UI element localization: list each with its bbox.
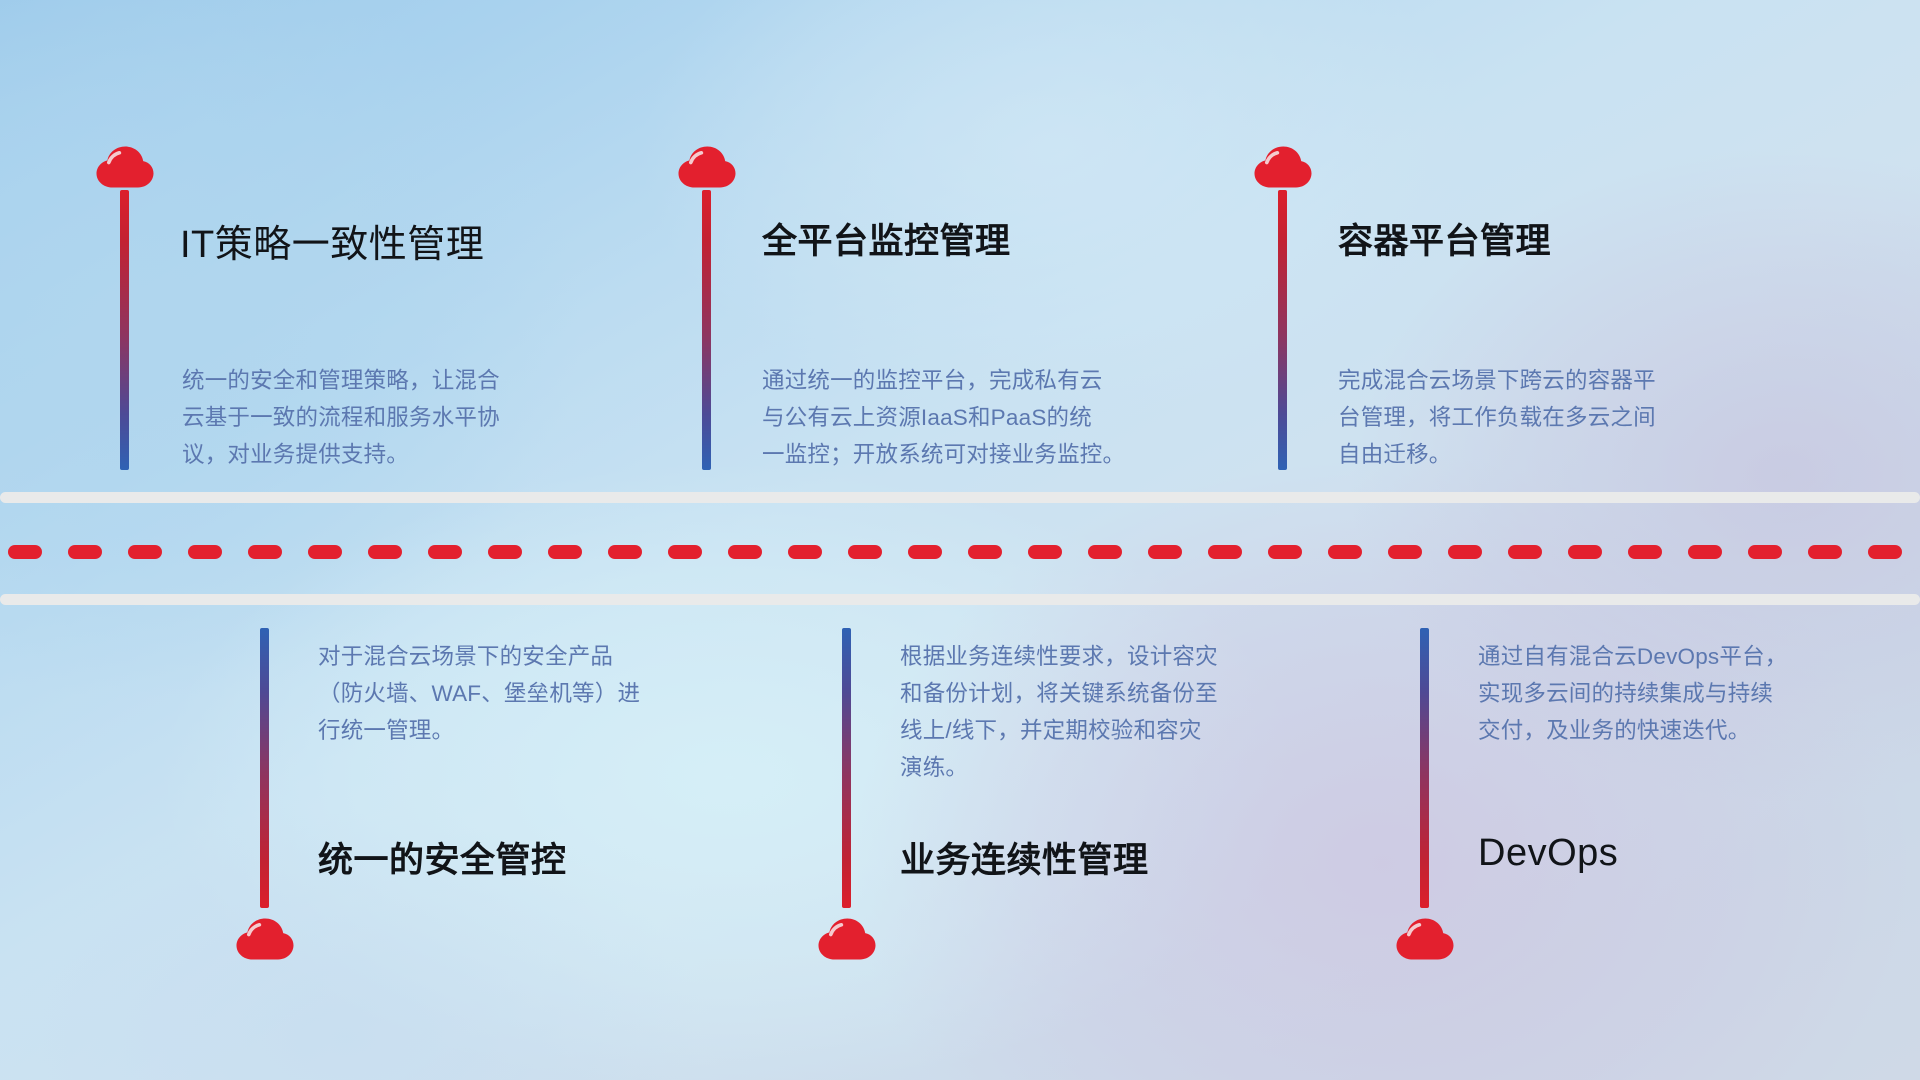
card-body-line: 和备份计划，将关键系统备份至 — [900, 675, 1218, 712]
card-body-line: 通过统一的监控平台，完成私有云 — [762, 362, 1125, 399]
card-title: 全平台监控管理 — [762, 213, 1011, 264]
road-dashed-centerline — [0, 545, 1920, 559]
road-dash-segment — [248, 545, 282, 559]
card-body: 通过统一的监控平台，完成私有云与公有云上资源IaaS和PaaS的统一监控；开放系… — [762, 362, 1125, 473]
card-body-line: 自由迁移。 — [1338, 436, 1656, 473]
marker-stem — [260, 628, 269, 908]
road-dash-segment — [968, 545, 1002, 559]
cloud-icon — [1396, 918, 1454, 960]
road-dash-segment — [1508, 545, 1542, 559]
road-dash-segment — [8, 545, 42, 559]
road-dash-segment — [788, 545, 822, 559]
card-title: IT策略一致性管理 — [180, 213, 484, 268]
road-dash-segment — [1448, 545, 1482, 559]
road-dash-segment — [608, 545, 642, 559]
card-title: DevOps — [1478, 832, 1618, 875]
marker-stem — [120, 190, 129, 470]
road-dash-segment — [1208, 545, 1242, 559]
road-dash-segment — [1688, 545, 1722, 559]
card-body-line: 实现多云间的持续集成与持续 — [1478, 675, 1787, 712]
cloud-icon — [678, 146, 736, 188]
marker-stem — [842, 628, 851, 908]
marker-stem — [1278, 190, 1287, 470]
card-title: 容器平台管理 — [1338, 213, 1551, 264]
card-body-line: 线上/线下，并定期校验和容灾 — [900, 712, 1218, 749]
cloud-icon — [818, 918, 876, 960]
card-body-line: （防火墙、WAF、堡垒机等）进 — [318, 675, 640, 712]
road-dash-segment — [548, 545, 582, 559]
card-title: 统一的安全管控 — [318, 832, 567, 883]
road-dash-segment — [128, 545, 162, 559]
road-dash-segment — [908, 545, 942, 559]
card-body: 根据业务连续性要求，设计容灾和备份计划，将关键系统备份至线上/线下，并定期校验和… — [900, 638, 1218, 786]
cloud-icon — [96, 146, 154, 188]
card-body: 通过自有混合云DevOps平台，实现多云间的持续集成与持续交付，及业务的快速迭代… — [1478, 638, 1787, 749]
marker-stem — [702, 190, 711, 470]
road-dash-segment — [668, 545, 702, 559]
card-body-line: 交付，及业务的快速迭代。 — [1478, 712, 1787, 749]
card-title: 业务连续性管理 — [900, 832, 1149, 883]
road-edge-bottom — [0, 594, 1920, 605]
road-dash-segment — [1088, 545, 1122, 559]
road-dash-segment — [848, 545, 882, 559]
road-dash-segment — [1748, 545, 1782, 559]
card-body-line: 统一的安全和管理策略，让混合 — [182, 362, 500, 399]
road-dash-segment — [428, 545, 462, 559]
road-dash-segment — [1328, 545, 1362, 559]
road-dash-segment — [1268, 545, 1302, 559]
road-dash-segment — [308, 545, 342, 559]
card-body-line: 完成混合云场景下跨云的容器平 — [1338, 362, 1656, 399]
road-dash-segment — [1148, 545, 1182, 559]
marker-stem — [1420, 628, 1429, 908]
card-body-line: 通过自有混合云DevOps平台， — [1478, 638, 1787, 675]
road-dash-segment — [1388, 545, 1422, 559]
card-body-line: 一监控；开放系统可对接业务监控。 — [762, 436, 1125, 473]
road-dash-segment — [1568, 545, 1602, 559]
road-dash-segment — [188, 545, 222, 559]
road-dash-segment — [1628, 545, 1662, 559]
cloud-icon — [236, 918, 294, 960]
card-body-line: 议，对业务提供支持。 — [182, 436, 500, 473]
road-dash-segment — [1868, 545, 1902, 559]
card-body: 统一的安全和管理策略，让混合云基于一致的流程和服务水平协议，对业务提供支持。 — [182, 362, 500, 473]
card-body: 完成混合云场景下跨云的容器平台管理，将工作负载在多云之间自由迁移。 — [1338, 362, 1656, 473]
card-body-line: 对于混合云场景下的安全产品 — [318, 638, 640, 675]
road-dash-segment — [1808, 545, 1842, 559]
card-body-line: 根据业务连续性要求，设计容灾 — [900, 638, 1218, 675]
road-dash-segment — [368, 545, 402, 559]
road-dash-segment — [1028, 545, 1062, 559]
road-edge-top — [0, 492, 1920, 503]
infographic-canvas: IT策略一致性管理统一的安全和管理策略，让混合云基于一致的流程和服务水平协议，对… — [0, 0, 1920, 1080]
card-body-line: 行统一管理。 — [318, 712, 640, 749]
card-body-line: 台管理，将工作负载在多云之间 — [1338, 399, 1656, 436]
road-dash-segment — [68, 545, 102, 559]
card-body: 对于混合云场景下的安全产品（防火墙、WAF、堡垒机等）进行统一管理。 — [318, 638, 640, 749]
card-body-line: 与公有云上资源IaaS和PaaS的统 — [762, 399, 1125, 436]
card-body-line: 演练。 — [900, 749, 1218, 786]
road-dash-segment — [488, 545, 522, 559]
card-body-line: 云基于一致的流程和服务水平协 — [182, 399, 500, 436]
road-dash-segment — [728, 545, 762, 559]
cloud-icon — [1254, 146, 1312, 188]
